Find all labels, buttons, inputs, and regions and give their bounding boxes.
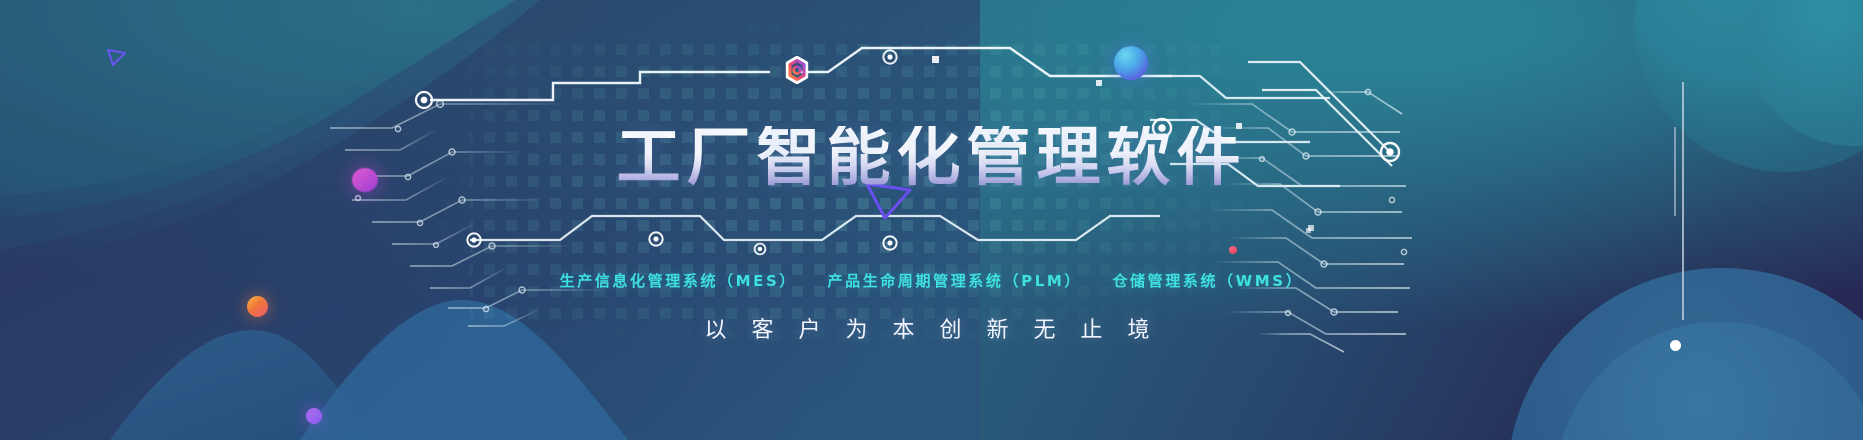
- accent-dot-magenta: [352, 168, 378, 192]
- decor-vertical-line-short: [1674, 127, 1676, 216]
- system-item-wms[interactable]: 仓储管理系统（WMS）: [1112, 270, 1303, 291]
- triangle-outline-small-icon: [106, 48, 128, 68]
- banner-slogan-wrap: 以 客 户 为 本 创 新 无 止 境: [0, 312, 1863, 344]
- hexagon-node-icon: [783, 56, 811, 84]
- accent-dot-purple: [306, 408, 322, 424]
- accent-dot-pink: [1229, 246, 1237, 254]
- hero-banner: 工厂智能化管理软件 生产信息化管理系统（MES） 产品生命周期管理系统（PLM）…: [0, 0, 1863, 440]
- system-item-mes[interactable]: 生产信息化管理系统（MES）: [560, 270, 797, 291]
- circuit-diagonal: [1248, 62, 1392, 166]
- system-item-plm[interactable]: 产品生命周期管理系统（PLM）: [828, 270, 1082, 291]
- triangle-outline-large-icon: [864, 180, 914, 222]
- banner-slogan: 以 客 户 为 本 创 新 无 止 境: [705, 318, 1159, 343]
- gradient-sphere-icon: [1114, 46, 1148, 80]
- system-list: 生产信息化管理系统（MES） 产品生命周期管理系统（PLM） 仓储管理系统（WM…: [0, 270, 1863, 291]
